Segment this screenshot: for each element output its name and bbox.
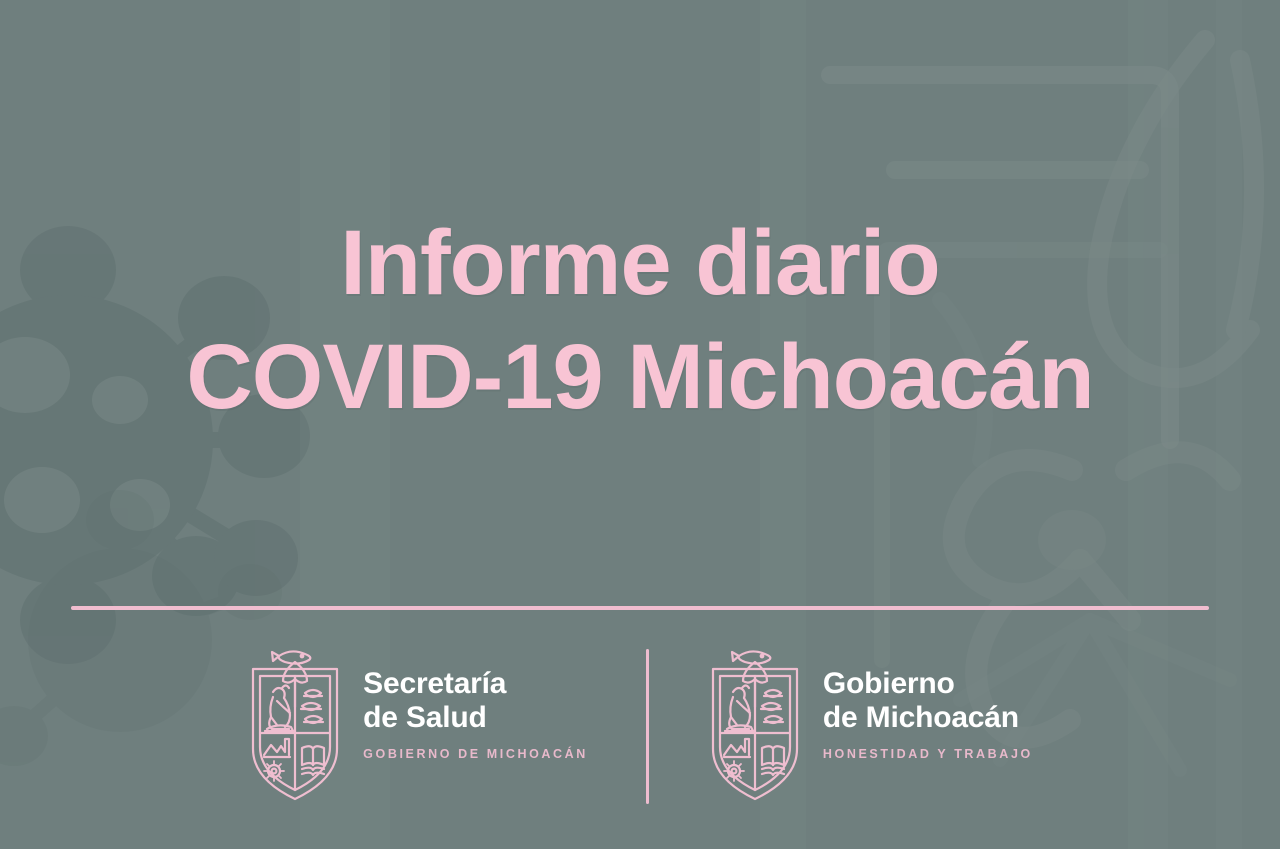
- logo-secretaria-de-salud: Secretaría de Salud GOBIERNO DE MICHOACÁ…: [247, 645, 588, 803]
- page-title: Informe diario COVID-19 Michoacán: [0, 206, 1280, 434]
- michoacan-coat-of-arms-icon: [707, 645, 803, 803]
- slide-cover: Informe diario COVID-19 Michoacán: [0, 0, 1280, 849]
- logo-title-line-1: Secretaría: [363, 667, 588, 701]
- vertical-divider: [646, 649, 649, 804]
- michoacan-coat-of-arms-icon: [247, 645, 343, 803]
- footer-logos: Secretaría de Salud GOBIERNO DE MICHOACÁ…: [0, 645, 1280, 815]
- logo-title-line-1: Gobierno: [823, 667, 1033, 701]
- logo-text-block: Secretaría de Salud GOBIERNO DE MICHOACÁ…: [363, 645, 588, 761]
- logo-text-block: Gobierno de Michoacán HONESTIDAD Y TRABA…: [823, 645, 1033, 761]
- logo-gobierno-de-michoacan: Gobierno de Michoacán HONESTIDAD Y TRABA…: [707, 645, 1033, 803]
- title-line-2: COVID-19 Michoacán: [0, 320, 1280, 434]
- horizontal-divider: [71, 606, 1209, 610]
- logo-subtitle: HONESTIDAD Y TRABAJO: [823, 747, 1033, 761]
- logo-title-line-2: de Michoacán: [823, 701, 1033, 735]
- title-line-1: Informe diario: [0, 206, 1280, 320]
- logo-title-line-2: de Salud: [363, 701, 588, 735]
- logo-subtitle: GOBIERNO DE MICHOACÁN: [363, 747, 588, 761]
